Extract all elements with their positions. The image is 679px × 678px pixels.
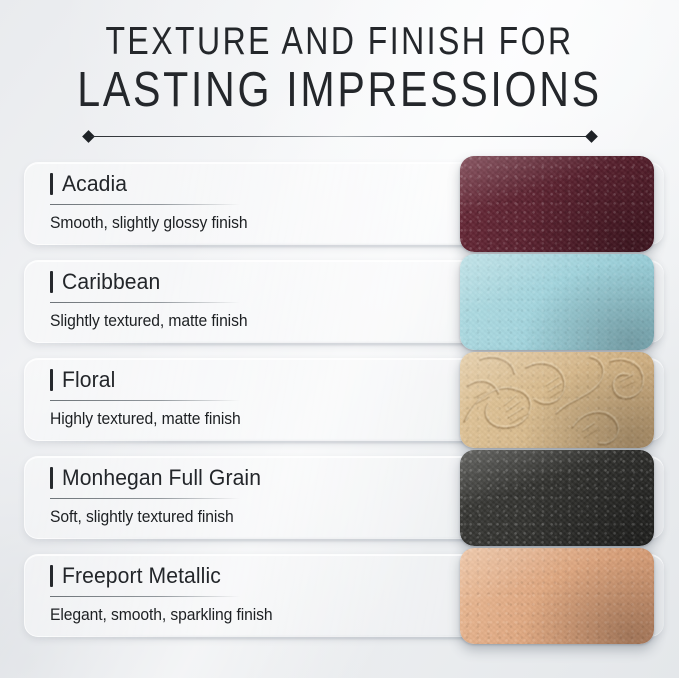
list-item[interactable]: Floral Highly textured, matte finish — [24, 352, 663, 448]
header: TEXTURE AND FINISH FOR LASTING IMPRESSIO… — [0, 0, 679, 144]
accent-bar-icon — [50, 467, 53, 489]
diamond-left-icon — [82, 130, 95, 143]
finish-label-group: Monhegan Full Grain Soft, slightly textu… — [50, 464, 446, 527]
accent-bar-icon — [50, 173, 53, 195]
finish-label-group: Acadia Smooth, slightly glossy finish — [50, 170, 446, 233]
accent-bar-icon — [50, 271, 53, 293]
accent-bar-icon — [50, 369, 53, 391]
finish-name: Monhegan Full Grain — [62, 467, 261, 489]
monhegan-full-grain-leather-swatch[interactable] — [460, 450, 654, 546]
finish-list: Acadia Smooth, slightly glossy finish Ca… — [0, 156, 679, 644]
divider-rule — [91, 136, 589, 137]
finish-description: Elegant, smooth, sparkling finish — [50, 606, 426, 625]
finish-underline — [50, 204, 240, 205]
finish-label-group: Freeport Metallic Elegant, smooth, spark… — [50, 562, 446, 625]
list-item[interactable]: Acadia Smooth, slightly glossy finish — [24, 156, 663, 252]
finish-name-line: Acadia — [50, 170, 446, 198]
finish-name-line: Caribbean — [50, 268, 446, 296]
list-item[interactable]: Monhegan Full Grain Soft, slightly textu… — [24, 450, 663, 546]
finish-label-group: Floral Highly textured, matte finish — [50, 366, 446, 429]
swatch-sheen — [460, 450, 654, 546]
finish-name: Floral — [62, 369, 115, 391]
finish-underline — [50, 596, 240, 597]
finish-name-line: Freeport Metallic — [50, 562, 446, 590]
freeport-metallic-leather-swatch[interactable] — [460, 548, 654, 644]
page-title-line-1: TEXTURE AND FINISH FOR — [73, 22, 607, 63]
list-item[interactable]: Caribbean Slightly textured, matte finis… — [24, 254, 663, 350]
finish-name: Caribbean — [62, 271, 160, 293]
swatch-sheen — [460, 254, 654, 350]
finish-underline — [50, 498, 240, 499]
list-item[interactable]: Freeport Metallic Elegant, smooth, spark… — [24, 548, 663, 644]
caribbean-leather-swatch[interactable] — [460, 254, 654, 350]
diamond-right-icon — [585, 130, 598, 143]
finish-description: Smooth, slightly glossy finish — [50, 214, 426, 233]
acadia-leather-swatch[interactable] — [460, 156, 654, 252]
finish-description: Slightly textured, matte finish — [50, 312, 426, 331]
finish-underline — [50, 400, 240, 401]
finish-description: Soft, slightly textured finish — [50, 508, 426, 527]
swatch-sheen — [460, 352, 654, 448]
accent-bar-icon — [50, 565, 53, 587]
finish-name: Acadia — [62, 173, 127, 195]
swatch-sheen — [460, 548, 654, 644]
finish-label-group: Caribbean Slightly textured, matte finis… — [50, 268, 446, 331]
finish-name: Freeport Metallic — [62, 565, 221, 587]
divider-ornament — [84, 130, 596, 144]
finish-underline — [50, 302, 240, 303]
floral-leather-swatch[interactable] — [460, 352, 654, 448]
texture-finish-infographic: TEXTURE AND FINISH FOR LASTING IMPRESSIO… — [0, 0, 679, 678]
swatch-sheen — [460, 156, 654, 252]
finish-name-line: Floral — [50, 366, 446, 394]
finish-name-line: Monhegan Full Grain — [50, 464, 446, 492]
finish-description: Highly textured, matte finish — [50, 410, 426, 429]
page-title-line-2: LASTING IMPRESSIONS — [66, 65, 613, 116]
